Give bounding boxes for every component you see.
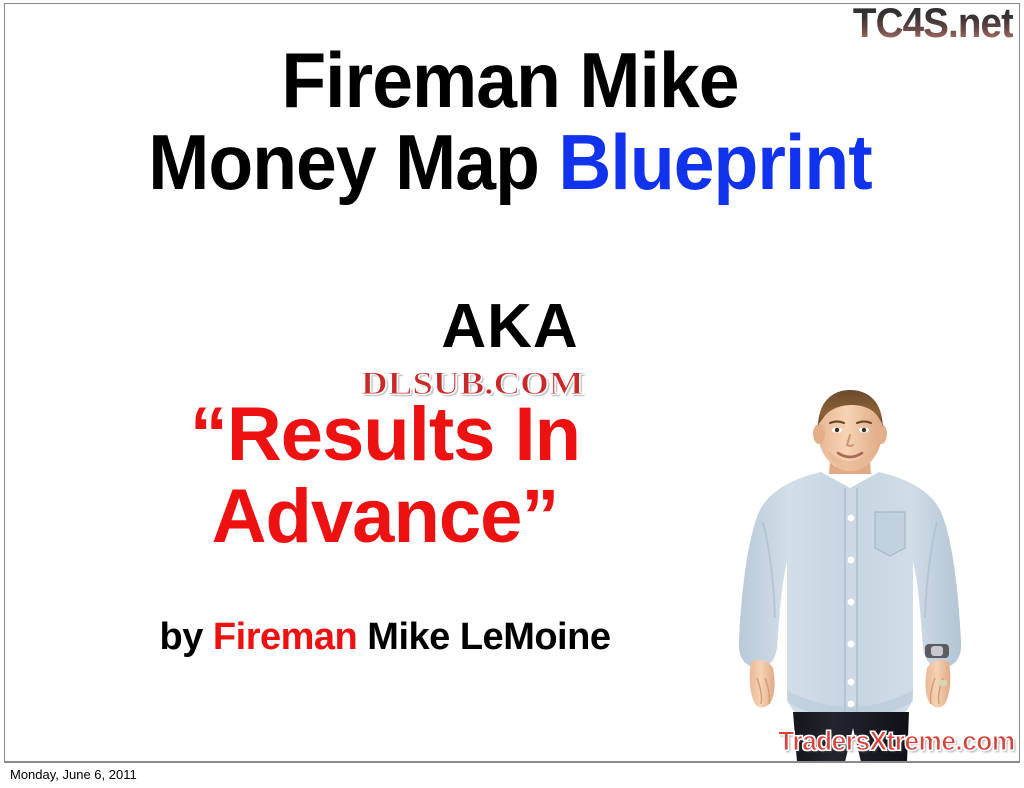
byline-suffix: Mike LeMoine bbox=[357, 616, 610, 658]
byline-highlight: Fireman bbox=[213, 616, 357, 658]
presenter-photo bbox=[735, 390, 965, 762]
aka-label: AKA bbox=[5, 296, 1015, 358]
byline: by Fireman Mike LeMoine bbox=[25, 618, 745, 656]
title-line-1: Fireman Mike bbox=[35, 42, 984, 118]
slide-screen: TC4S.net Fireman Mike Money Map Blueprin… bbox=[0, 0, 1024, 788]
footer-date: Monday, June 6, 2011 bbox=[10, 768, 137, 781]
tagline-line-2: Advance” bbox=[25, 476, 745, 558]
tradersxtreme-watermark: TradersXtreme.com bbox=[779, 728, 1015, 755]
title-line-2: Money Map Blueprint bbox=[35, 124, 984, 200]
slide-frame: TC4S.net Fireman Mike Money Map Blueprin… bbox=[4, 3, 1020, 762]
tc4s-brand-logo: TC4S.net bbox=[853, 3, 1013, 44]
tagline-quote: “Results In Advance” bbox=[25, 394, 745, 558]
title-line-2-blue: Blueprint bbox=[558, 118, 871, 206]
tagline-line-1: “Results In bbox=[25, 394, 745, 476]
footer-divider bbox=[4, 762, 1020, 763]
byline-prefix: by bbox=[160, 616, 213, 658]
dlsub-watermark: DLSUB.COM bbox=[361, 368, 584, 401]
page-title: Fireman Mike Money Map Blueprint bbox=[35, 42, 984, 201]
title-line-2-black: Money Map bbox=[148, 118, 558, 206]
